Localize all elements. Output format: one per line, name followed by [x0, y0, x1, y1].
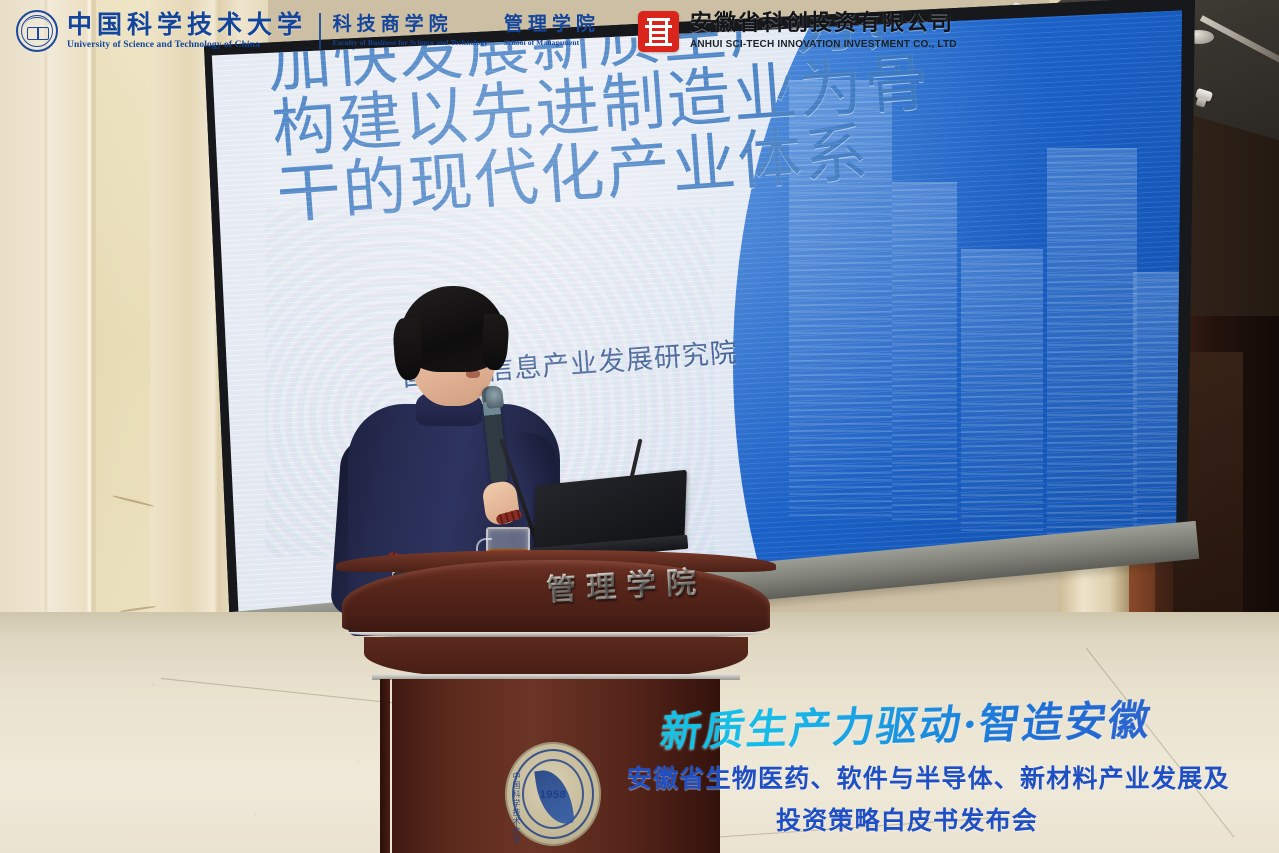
nameplate-char-4: 院 — [665, 557, 697, 603]
building — [961, 249, 1043, 531]
nameplate-char-2: 理 — [585, 562, 617, 608]
building — [1133, 272, 1182, 532]
hair-side — [392, 317, 424, 381]
nameplate-char-1: 管 — [545, 564, 577, 610]
lectern-mid-section — [364, 637, 748, 677]
nameplate-char-3: 学 — [625, 560, 657, 606]
emblem-cn-text: 中国科学技术大学 — [511, 772, 522, 844]
building — [1047, 148, 1137, 543]
microphone-head — [485, 385, 504, 409]
hair-side — [480, 313, 510, 371]
lectern-nameplate: 管 理 学 院 — [545, 551, 747, 613]
school-name-cn: 科技商学院 — [333, 15, 488, 34]
seal-stroke — [647, 18, 670, 21]
ustc-emblem-icon: 1958 中国科学技术大学 — [505, 742, 601, 846]
photo-scene: 加快发展新质生产力， 构建以先进制造业为骨 干的现代化产业体系 国电子信息产业发… — [0, 0, 1279, 853]
